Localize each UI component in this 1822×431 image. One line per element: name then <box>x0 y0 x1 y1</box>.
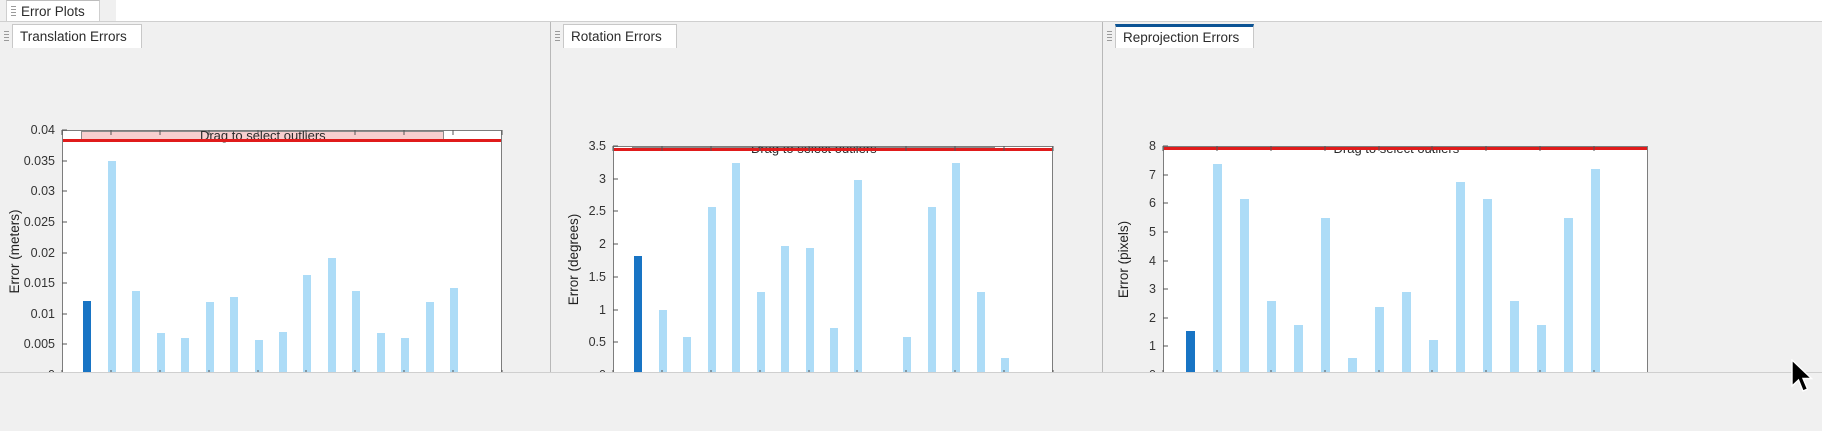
bar[interactable] <box>352 291 360 374</box>
x-tick-mark-top <box>613 146 614 151</box>
bar[interactable] <box>181 338 189 374</box>
bar[interactable] <box>450 288 458 374</box>
y-tick-label: 0.5 <box>589 335 613 349</box>
outlier-threshold-line[interactable] <box>1164 147 1648 150</box>
bar[interactable] <box>328 258 336 374</box>
x-tick-mark-top <box>306 130 307 135</box>
x-tick-mark-top <box>110 130 111 135</box>
bar[interactable] <box>1240 199 1249 374</box>
bar[interactable] <box>1456 182 1465 374</box>
y-tick-label: 8 <box>1149 139 1163 153</box>
chart-translation: Drag to select outliers00.0050.010.0150.… <box>0 48 550 372</box>
bar[interactable] <box>1402 292 1411 374</box>
grip-icon <box>555 31 560 42</box>
x-tick-mark-top <box>955 146 956 151</box>
y-tick-mark <box>62 313 67 314</box>
x-tick-mark-top <box>1378 146 1379 151</box>
tab-label: Reprojection Errors <box>1123 30 1239 45</box>
mouse-cursor-icon <box>1790 359 1816 393</box>
x-tick-mark-top <box>208 130 209 135</box>
y-tick-label: 1 <box>599 303 613 317</box>
y-tick-mark <box>62 252 67 253</box>
y-tick-label: 0.005 <box>24 337 62 351</box>
x-tick-mark-top <box>661 146 662 151</box>
bar[interactable] <box>854 180 862 374</box>
chart-reprojection: Drag to select outliers01234567802468101… <box>1103 48 1822 372</box>
bar[interactable] <box>377 333 385 374</box>
x-tick-mark-top <box>1594 146 1595 151</box>
y-tick-label: 5 <box>1149 225 1163 239</box>
tab-translation[interactable]: Translation Errors <box>12 24 142 48</box>
panel-tabstrip-reprojection: Reprojection Errors <box>1103 22 1822 48</box>
bar[interactable] <box>1375 307 1384 374</box>
x-tick-mark-top <box>1053 146 1054 151</box>
y-tick-label: 0.035 <box>24 154 62 168</box>
y-tick-mark <box>62 160 67 161</box>
x-tick-mark-top <box>62 130 63 135</box>
document-tab-error-plots[interactable]: Error Plots <box>6 0 100 22</box>
y-tick-label: 4 <box>1149 254 1163 268</box>
y-tick-mark <box>1163 203 1168 204</box>
y-tick-mark <box>62 130 67 131</box>
plot-axes: Drag to select outliers <box>1163 146 1648 375</box>
document-tabbar-filler <box>116 0 1822 22</box>
y-tick-label: 0.015 <box>24 276 62 290</box>
outlier-threshold-line[interactable] <box>614 148 1053 151</box>
y-tick-label: 3 <box>1149 282 1163 296</box>
panel-tabstrip-rotation: Rotation Errors <box>551 22 1102 48</box>
grip-icon <box>4 31 9 42</box>
plot-axes: Drag to select outliers <box>613 146 1053 375</box>
x-tick-mark-top <box>453 130 454 135</box>
y-tick-mark <box>613 178 618 179</box>
bar[interactable] <box>830 328 838 374</box>
x-tick-mark-top <box>808 146 809 151</box>
y-tick-label: 2.5 <box>589 204 613 218</box>
grip-icon <box>1107 31 1112 42</box>
bar[interactable] <box>1591 169 1600 374</box>
document-tab-label: Error Plots <box>21 4 85 19</box>
bar[interactable] <box>781 246 789 374</box>
bar[interactable] <box>1510 301 1519 374</box>
bar[interactable] <box>806 248 814 374</box>
y-tick-label: 3.5 <box>589 139 613 153</box>
outlier-threshold-line[interactable] <box>63 139 502 142</box>
x-tick-mark-top <box>1486 146 1487 151</box>
y-tick-mark <box>1163 174 1168 175</box>
y-tick-mark <box>613 309 618 310</box>
y-tick-mark <box>1163 346 1168 347</box>
x-tick-mark-top <box>1004 146 1005 151</box>
y-tick-label: 0.03 <box>31 184 62 198</box>
x-tick-mark-top <box>1324 146 1325 151</box>
x-tick-mark-top <box>502 130 503 135</box>
y-tick-label: 1 <box>1149 339 1163 353</box>
y-tick-mark <box>1163 317 1168 318</box>
y-tick-mark <box>62 344 67 345</box>
bar[interactable] <box>1321 218 1330 374</box>
y-tick-mark <box>1163 289 1168 290</box>
x-tick-mark-top <box>404 130 405 135</box>
bar[interactable] <box>279 332 287 374</box>
chart-rotation: Drag to select outliers00.511.522.533.50… <box>551 48 1102 372</box>
y-tick-mark <box>613 146 618 147</box>
bar[interactable] <box>132 291 140 374</box>
bar[interactable] <box>1294 325 1303 374</box>
y-tick-mark <box>62 221 67 222</box>
x-tick-mark-top <box>1540 146 1541 151</box>
bar[interactable] <box>1267 301 1276 374</box>
x-tick-mark-top <box>257 130 258 135</box>
bar[interactable] <box>1213 164 1222 374</box>
y-tick-mark <box>1163 260 1168 261</box>
bar[interactable] <box>255 340 263 374</box>
y-tick-label: 0.04 <box>31 123 62 137</box>
y-tick-mark <box>62 283 67 284</box>
panel-rotation: Rotation ErrorsDrag to select outliers00… <box>551 22 1102 372</box>
bar[interactable] <box>659 310 667 374</box>
tab-label: Rotation Errors <box>571 29 662 44</box>
bar[interactable] <box>1483 199 1492 374</box>
panel-translation: Translation ErrorsDrag to select outlier… <box>0 22 550 372</box>
y-axis-label: Error (meters) <box>7 129 22 374</box>
y-tick-label: 2 <box>599 237 613 251</box>
plot-axes: Drag to select outliers <box>62 130 502 375</box>
x-tick-mark-top <box>710 146 711 151</box>
bar[interactable] <box>952 163 960 374</box>
bar[interactable] <box>426 302 434 374</box>
bar[interactable] <box>1429 340 1438 374</box>
bar[interactable] <box>401 338 409 374</box>
y-tick-label: 3 <box>599 172 613 186</box>
y-axis-label: Error (pixels) <box>1116 145 1131 374</box>
bar[interactable] <box>206 302 214 374</box>
bar[interactable] <box>634 256 642 374</box>
bar[interactable] <box>708 207 716 374</box>
y-tick-mark <box>613 276 618 277</box>
bar[interactable] <box>732 163 740 374</box>
x-tick-mark-top <box>1216 146 1217 151</box>
tab-reprojection[interactable]: Reprojection Errors <box>1115 24 1254 48</box>
x-tick-mark-top <box>857 146 858 151</box>
plot-wrapper: Drag to select outliers01234567802468101… <box>1163 146 1648 375</box>
y-tick-label: 0.02 <box>31 246 62 260</box>
bar[interactable] <box>1564 218 1573 374</box>
plot-panels: Translation ErrorsDrag to select outlier… <box>0 22 1822 372</box>
y-tick-label: 2 <box>1149 311 1163 325</box>
bar[interactable] <box>757 292 765 374</box>
bar[interactable] <box>108 161 116 374</box>
tab-label: Translation Errors <box>20 29 127 44</box>
x-tick-mark-top <box>759 146 760 151</box>
y-tick-mark <box>1163 146 1168 147</box>
y-tick-mark <box>1163 231 1168 232</box>
grip-icon <box>11 6 16 18</box>
bar[interactable] <box>1186 331 1195 374</box>
x-tick-mark-top <box>906 146 907 151</box>
bar[interactable] <box>303 275 311 374</box>
document-tabbar: Error Plots <box>0 0 1822 22</box>
tab-rotation[interactable]: Rotation Errors <box>563 24 677 48</box>
panel-tabstrip-translation: Translation Errors <box>0 22 550 48</box>
y-tick-label: 1.5 <box>589 270 613 284</box>
bar[interactable] <box>977 292 985 374</box>
plot-wrapper: Drag to select outliers00.511.522.533.50… <box>613 146 1053 375</box>
y-tick-label: 6 <box>1149 196 1163 210</box>
y-tick-label: 0.025 <box>24 215 62 229</box>
y-tick-mark <box>62 191 67 192</box>
panel-reprojection: Reprojection ErrorsDrag to select outlie… <box>1103 22 1822 372</box>
bar[interactable] <box>928 207 936 374</box>
bar[interactable] <box>903 337 911 374</box>
y-axis-label: Error (degrees) <box>566 145 581 374</box>
plot-wrapper: Drag to select outliers00.0050.010.0150.… <box>62 130 502 375</box>
x-tick-mark-top <box>355 130 356 135</box>
x-tick-mark-top <box>1270 146 1271 151</box>
x-tick-mark-top <box>1432 146 1433 151</box>
y-tick-mark <box>613 211 618 212</box>
y-tick-mark <box>613 342 618 343</box>
y-tick-label: 7 <box>1149 168 1163 182</box>
bar[interactable] <box>83 301 91 375</box>
error-plots-window: Error Plots Translation ErrorsDrag to se… <box>0 0 1822 430</box>
bar[interactable] <box>1537 325 1546 374</box>
bar[interactable] <box>157 333 165 374</box>
y-tick-label: 0.01 <box>31 307 62 321</box>
x-tick-mark-top <box>1163 146 1164 151</box>
bar[interactable] <box>230 297 238 374</box>
bottom-bar <box>0 372 1822 431</box>
x-tick-mark-top <box>159 130 160 135</box>
bar[interactable] <box>683 337 691 374</box>
y-tick-mark <box>613 244 618 245</box>
